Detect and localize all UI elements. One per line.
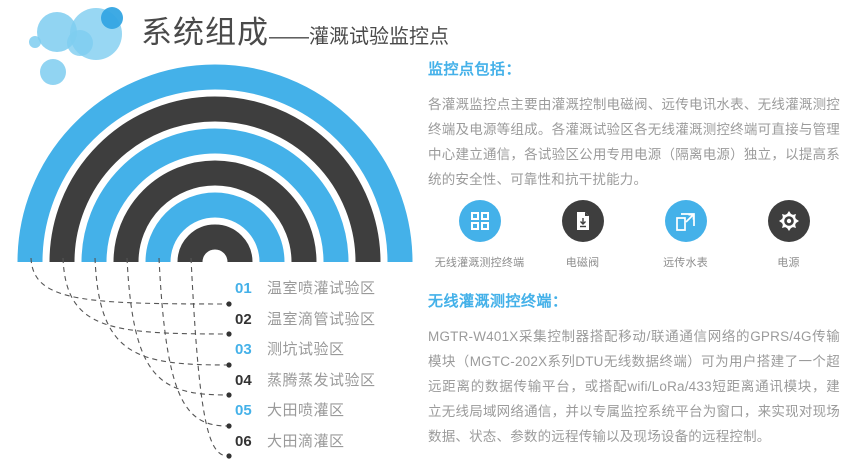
- connector-lines: [0, 258, 270, 469]
- legend-label: 大田喷灌区: [267, 399, 345, 420]
- connector-1: [31, 258, 228, 304]
- section-terminal: 无线灌溉测控终端： MGTR-W401X采集控制器搭配移动/联通通信网络的GPR…: [428, 290, 840, 449]
- connector-dot-4: [226, 392, 231, 397]
- connector-dot-5: [226, 423, 231, 428]
- legend-number: 06: [235, 433, 261, 450]
- connector-dot-3: [226, 362, 231, 367]
- list-item[interactable]: 03 测坑试验区: [235, 338, 435, 369]
- legend-label: 测坑试验区: [267, 338, 345, 359]
- connector-dot-2: [226, 331, 231, 336]
- legend-label: 温室喷灌试验区: [267, 277, 376, 298]
- connector-5: [159, 258, 228, 426]
- list-item[interactable]: 05 大田喷灌区: [235, 399, 435, 430]
- grid-icon[interactable]: [459, 200, 501, 242]
- legend-number: 01: [235, 280, 261, 297]
- legend-label: 蒸腾蒸发试验区: [267, 369, 376, 390]
- bubble-accent: [101, 7, 123, 29]
- external-link-icon-glyph: [675, 211, 696, 232]
- connector-svg: [0, 258, 270, 469]
- connector-dot-6: [226, 453, 231, 458]
- connector-4: [127, 258, 228, 395]
- list-item[interactable]: 06 大田滴灌区: [235, 430, 435, 461]
- section-terminal-heading: 无线灌溉测控终端：: [428, 290, 840, 311]
- connector-6: [191, 258, 228, 456]
- page-title-main: 系统组成: [141, 17, 269, 48]
- gear-icon-glyph: [778, 210, 800, 232]
- device-caption: 电磁阀: [566, 254, 600, 270]
- legend-label: 大田滴灌区: [267, 430, 345, 451]
- device-item-power[interactable]: 电源: [737, 200, 840, 270]
- section-monitor: 监控点包括： 各灌溉监控点主要由灌溉控制电磁阀、远传电讯水表、无线灌溉测控终端及…: [428, 58, 840, 192]
- device-caption: 电源: [777, 254, 799, 270]
- list-item[interactable]: 04 蒸腾蒸发试验区: [235, 369, 435, 400]
- arc-diagram: [0, 60, 420, 270]
- connector-dot-1: [226, 301, 231, 306]
- section-terminal-body: MGTR-W401X采集控制器搭配移动/联通通信网络的GPRS/4G传输模块（M…: [428, 324, 840, 449]
- slide-root: 系统组成 ——灌溉试验监控点: [0, 0, 852, 469]
- section-monitor-body: 各灌溉监控点主要由灌溉控制电磁阀、远传电讯水表、无线灌溉测控终端及电源等组成。各…: [428, 92, 840, 192]
- legend-label: 温室滴管试验区: [267, 308, 376, 329]
- legend-number: 05: [235, 402, 261, 419]
- zone-legend-list: 01 温室喷灌试验区 02 温室滴管试验区 03 测坑试验区 04 蒸腾蒸发试验…: [235, 277, 435, 460]
- legend-number: 04: [235, 372, 261, 389]
- page-title: 系统组成 ——灌溉试验监控点: [141, 17, 449, 48]
- device-icon-row: 无线灌溉测控终端 电磁阀: [428, 200, 840, 270]
- document-download-icon-glyph: [573, 211, 593, 231]
- device-item-valve[interactable]: 电磁阀: [531, 200, 634, 270]
- external-link-icon[interactable]: [665, 200, 707, 242]
- page-title-sub: ——灌溉试验监控点: [269, 27, 449, 47]
- gear-icon[interactable]: [768, 200, 810, 242]
- device-item-meter[interactable]: 远传水表: [634, 200, 737, 270]
- arc-svg: [0, 60, 420, 270]
- legend-number: 02: [235, 311, 261, 328]
- grid-icon-glyph: [470, 211, 490, 231]
- document-download-icon[interactable]: [562, 200, 604, 242]
- device-caption: 无线灌溉测控终端: [435, 254, 525, 270]
- connector-3: [95, 258, 228, 365]
- connector-2: [63, 258, 228, 334]
- device-item-terminal[interactable]: 无线灌溉测控终端: [428, 200, 531, 270]
- list-item[interactable]: 02 温室滴管试验区: [235, 308, 435, 339]
- legend-number: 03: [235, 341, 261, 358]
- device-caption: 远传水表: [663, 254, 708, 270]
- section-monitor-heading: 监控点包括：: [428, 58, 840, 79]
- list-item[interactable]: 01 温室喷灌试验区: [235, 277, 435, 308]
